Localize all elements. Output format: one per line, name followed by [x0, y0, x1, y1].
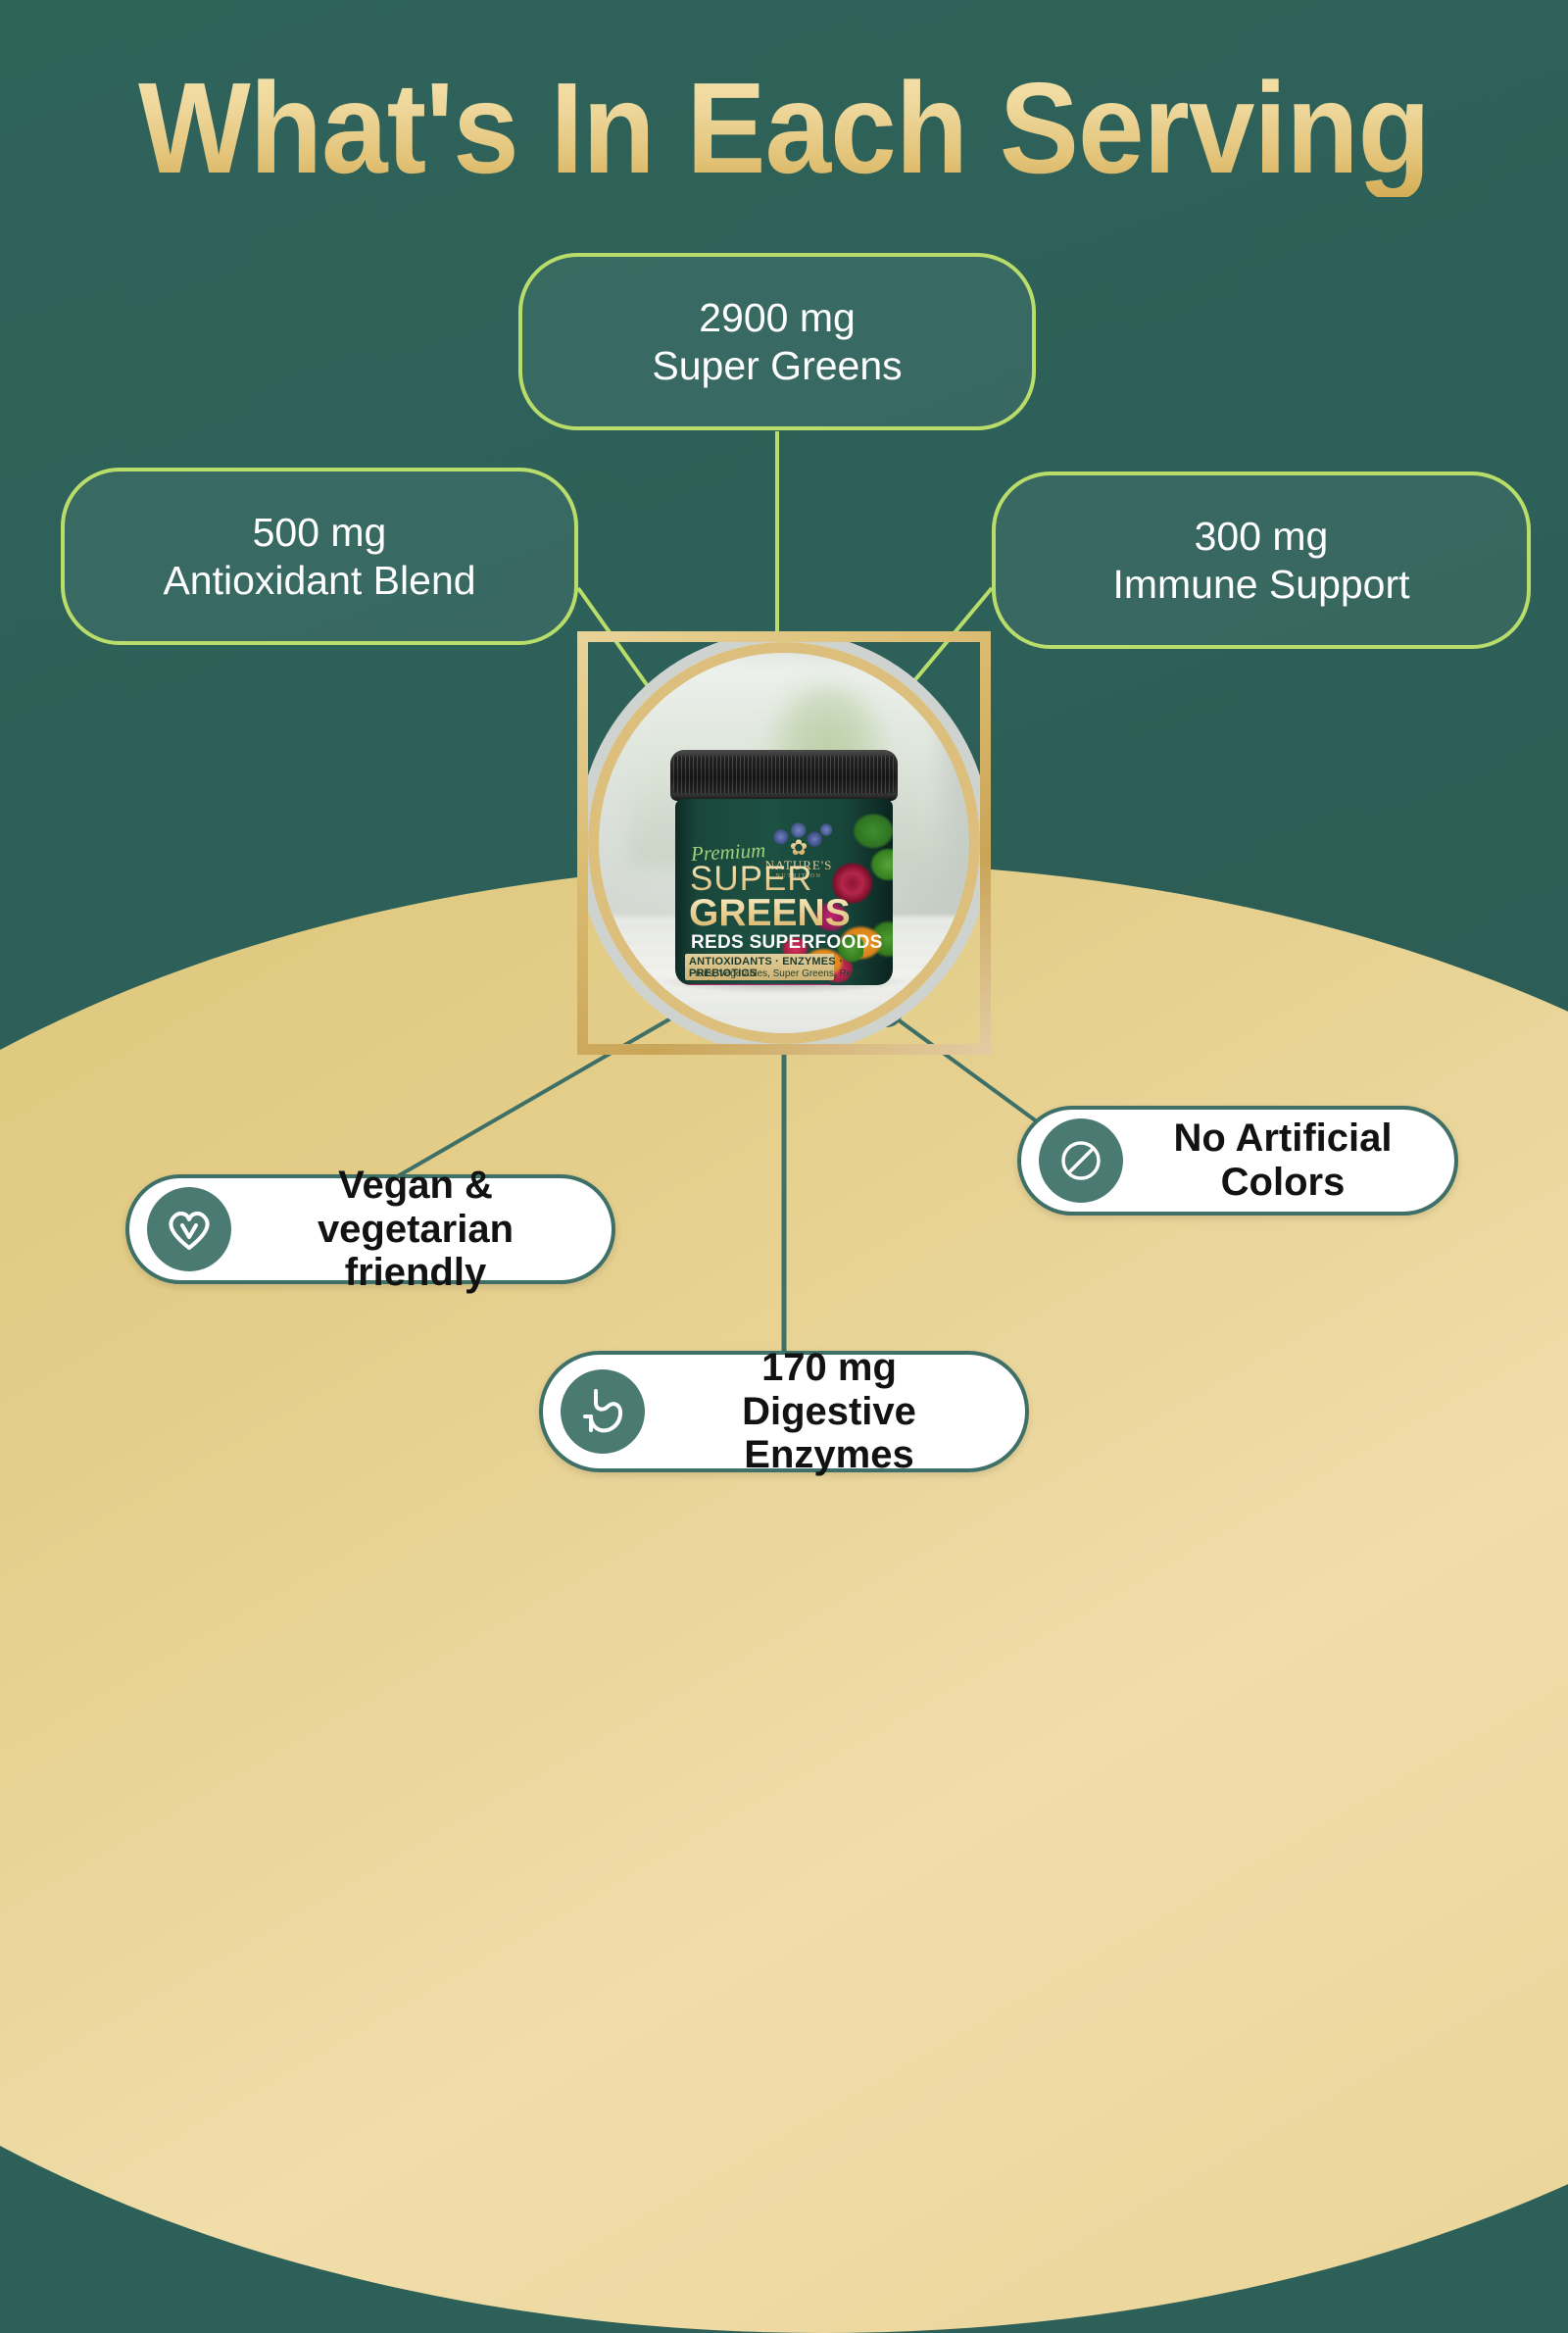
leaf-hummingbird-icon: ✿ — [758, 838, 840, 858]
callout-amount: 500 mg — [163, 509, 475, 556]
badge-line-1: No Artificial — [1141, 1117, 1425, 1161]
badge-line-1: 170 mg — [662, 1346, 996, 1390]
badge-no-artificial-colors[interactable]: No Artificial Colors — [1017, 1106, 1458, 1216]
label-ingredients: Fruits, Vegetables, Super Greens, Reds, … — [689, 968, 893, 985]
heart-vegan-icon — [147, 1187, 231, 1271]
label-product-name-2: GREENS — [689, 892, 851, 935]
callout-super-greens[interactable]: 2900 mg Super Greens — [518, 253, 1036, 430]
badge-text: 170 mg Digestive Enzymes — [662, 1346, 996, 1477]
badge-line-2: Colors — [1141, 1161, 1425, 1205]
prohibited-icon — [1039, 1118, 1123, 1203]
jar-lid — [670, 750, 898, 801]
callout-antioxidant-blend[interactable]: 500 mg Antioxidant Blend — [61, 468, 578, 645]
product-jar: ✿ NATURE'S NUTRITION Premium SUPER GREEN… — [670, 750, 898, 985]
badge-line-1: Vegan & vegetarian — [249, 1164, 582, 1252]
label-subtitle: REDS SUPERFOODS — [691, 932, 883, 954]
stomach-icon — [561, 1369, 645, 1454]
badge-text: No Artificial Colors — [1141, 1117, 1425, 1205]
product-image-circle: ✿ NATURE'S NUTRITION Premium SUPER GREEN… — [577, 631, 991, 1055]
badge-vegan-friendly[interactable]: Vegan & vegetarian friendly — [125, 1174, 615, 1284]
callout-label: Immune Support — [1112, 561, 1409, 608]
badge-text: Vegan & vegetarian friendly — [249, 1164, 582, 1295]
badge-line-2: Digestive Enzymes — [662, 1390, 996, 1478]
callout-label: Super Greens — [652, 342, 902, 389]
infographic-canvas: What's In Each Serving — [0, 0, 1568, 1568]
badge-digestive-enzymes[interactable]: 170 mg Digestive Enzymes — [539, 1351, 1029, 1472]
callout-amount: 2900 mg — [652, 294, 902, 341]
callout-label: Antioxidant Blend — [163, 557, 475, 604]
jar-label: ✿ NATURE'S NUTRITION Premium SUPER GREEN… — [675, 799, 893, 985]
badge-line-2: friendly — [249, 1251, 582, 1295]
label-flavor-band — [681, 984, 830, 985]
callout-immune-support[interactable]: 300 mg Immune Support — [992, 472, 1531, 649]
callout-amount: 300 mg — [1112, 513, 1409, 560]
